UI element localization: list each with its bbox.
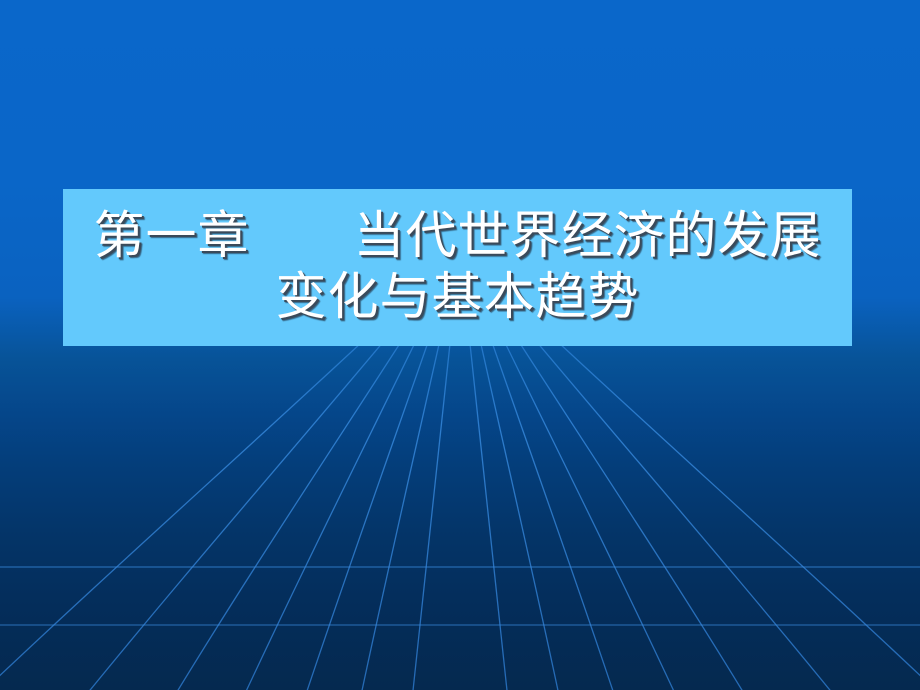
page-title: 第一章 当代世界经济的发展变化与基本趋势 bbox=[69, 207, 846, 327]
slide-canvas: 第一章 当代世界经济的发展变化与基本趋势 bbox=[0, 0, 920, 690]
title-text-box[interactable]: 第一章 当代世界经济的发展变化与基本趋势 bbox=[63, 189, 852, 346]
